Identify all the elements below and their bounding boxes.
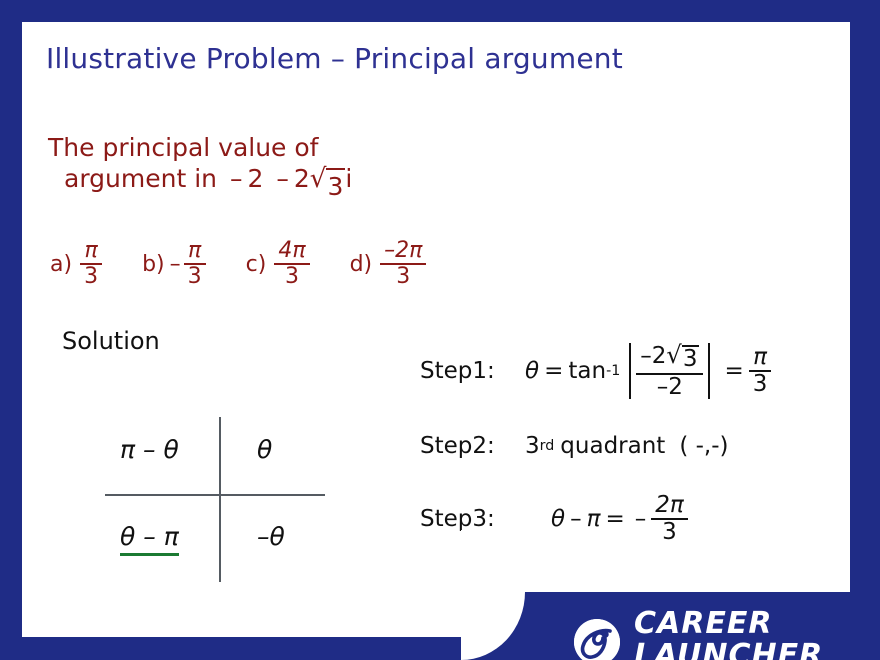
step-1-radicand: 3 [682, 345, 700, 371]
radicand: 3 [326, 168, 345, 202]
option-b[interactable]: b) – π 3 [142, 240, 206, 289]
option-c[interactable]: c) 4π 3 [246, 240, 310, 289]
career-launcher-swoosh-icon [574, 619, 620, 660]
option-c-denominator: 3 [281, 266, 303, 288]
solution-heading: Solution [62, 327, 160, 355]
option-c-numerator: 4π [274, 240, 309, 262]
brand-name: CAREER LAUNCHER [634, 608, 850, 660]
step-1-numerator: –2√3 [636, 343, 703, 371]
slide: Illustrative Problem – Principal argumen… [0, 0, 880, 660]
option-b-sign: – [170, 252, 181, 277]
expr-minus-1: – [230, 164, 243, 193]
option-a-label: a) [50, 252, 72, 277]
step-2-ordinal-number: 3 [525, 433, 540, 459]
step-1-fraction: –2√3 –2 [636, 343, 703, 399]
step-1-radical: √3 [666, 343, 699, 371]
problem-line-2-prefix: argument in [64, 164, 217, 193]
step-1-equation: θ = tan-1 –2√3 –2 = π [525, 343, 771, 399]
step-3-result-sign: – [635, 506, 647, 532]
answer-options: a) π 3 b) – π 3 c) [50, 240, 466, 289]
option-b-numerator: π [184, 240, 205, 262]
quadrant-1-formula: θ [257, 435, 272, 464]
quadrant-3-highlight-underline [120, 553, 179, 556]
step-2-label: Step2: [420, 433, 525, 459]
step-3-pi: π [587, 506, 601, 532]
step-3-theta: θ [551, 506, 565, 532]
step-2-signs: ( -,-) [679, 433, 728, 459]
solution-steps: Step1: θ = tan-1 –2√3 –2 = [420, 334, 771, 554]
quadrant-3-formula: θ – π [120, 522, 179, 556]
option-b-fraction: π 3 [184, 240, 206, 289]
option-a-numerator: π [80, 240, 101, 262]
quadrant-3-text: θ – π [120, 522, 179, 551]
option-c-fraction: 4π 3 [274, 240, 309, 289]
page-title: Illustrative Problem – Principal argumen… [46, 42, 623, 75]
step-3-equals: = [605, 506, 624, 532]
step-1-num-2: 2 [652, 343, 667, 369]
abs-bar-right [708, 343, 710, 399]
problem-line-2: argument in –2 –2√3i [48, 163, 352, 202]
problem-statement: The principal value of argument in –2 –2… [48, 132, 352, 203]
option-b-label: b) [142, 252, 165, 277]
step-2-text: quadrant [560, 433, 665, 459]
step-1-result-equals: = [724, 358, 743, 384]
option-d[interactable]: d) –2π 3 [350, 240, 427, 289]
step-1: Step1: θ = tan-1 –2√3 –2 = [420, 334, 771, 408]
option-d-label: d) [350, 252, 373, 277]
problem-line-1: The principal value of [48, 132, 352, 163]
step-1-result-numerator: π [749, 346, 771, 369]
step-3-result-denominator: 3 [658, 521, 681, 544]
step-1-label: Step1: [420, 358, 525, 384]
abs-bar-left [629, 343, 631, 399]
step-1-denominator: –2 [653, 376, 687, 399]
step-3-minus: – [570, 506, 582, 532]
quadrant-vertical-axis [219, 417, 221, 582]
expr-radical: √3 [310, 166, 346, 202]
expr-minus-2: – [276, 164, 289, 193]
brand-logo[interactable]: CAREER LAUNCHER [574, 608, 850, 660]
radical-sign: √ [310, 166, 327, 192]
step-1-function: tan [568, 358, 606, 384]
quadrant-2-formula: π – θ [120, 435, 179, 464]
step-2-ordinal-suffix: rd [540, 438, 555, 454]
quadrant-diagram: π – θ θ θ – π –θ [82, 417, 332, 582]
expr-coefficient-2a: 2 [247, 164, 263, 193]
option-a-fraction: π 3 [80, 240, 102, 289]
expr-coefficient-2b: 2 [294, 164, 310, 193]
quadrant-horizontal-axis [105, 494, 325, 496]
option-b-denominator: 3 [184, 266, 206, 288]
option-a[interactable]: a) π 3 [50, 240, 102, 289]
step-1-num-minus: – [640, 343, 652, 369]
step-1-exponent: -1 [606, 363, 620, 379]
imaginary-unit: i [345, 164, 352, 193]
step-1-radical-sign: √ [666, 343, 681, 367]
option-a-denominator: 3 [80, 266, 102, 288]
step-1-absolute-value: –2√3 –2 [624, 343, 715, 399]
step-1-result-denominator: 3 [749, 373, 772, 396]
footer-corner-curve [462, 592, 524, 659]
step-3-equation: θ – π = – 2π 3 [551, 494, 688, 545]
option-c-label: c) [246, 252, 267, 277]
option-d-numerator: –2π [380, 240, 426, 262]
quadrant-4-formula: –θ [257, 522, 285, 551]
step-1-equals: = [544, 358, 563, 384]
step-3-result-numerator: 2π [651, 494, 687, 517]
step-1-result-fraction: π 3 [749, 346, 772, 397]
option-d-denominator: 3 [392, 266, 414, 288]
option-d-fraction: –2π 3 [380, 240, 426, 289]
content-panel: Illustrative Problem – Principal argumen… [22, 22, 850, 637]
step-1-theta: θ [525, 358, 539, 384]
step-2: Step2: 3rd quadrant ( -,-) [420, 408, 771, 484]
step-3-result-fraction: 2π 3 [651, 494, 687, 545]
step-3-label: Step3: [420, 506, 525, 532]
